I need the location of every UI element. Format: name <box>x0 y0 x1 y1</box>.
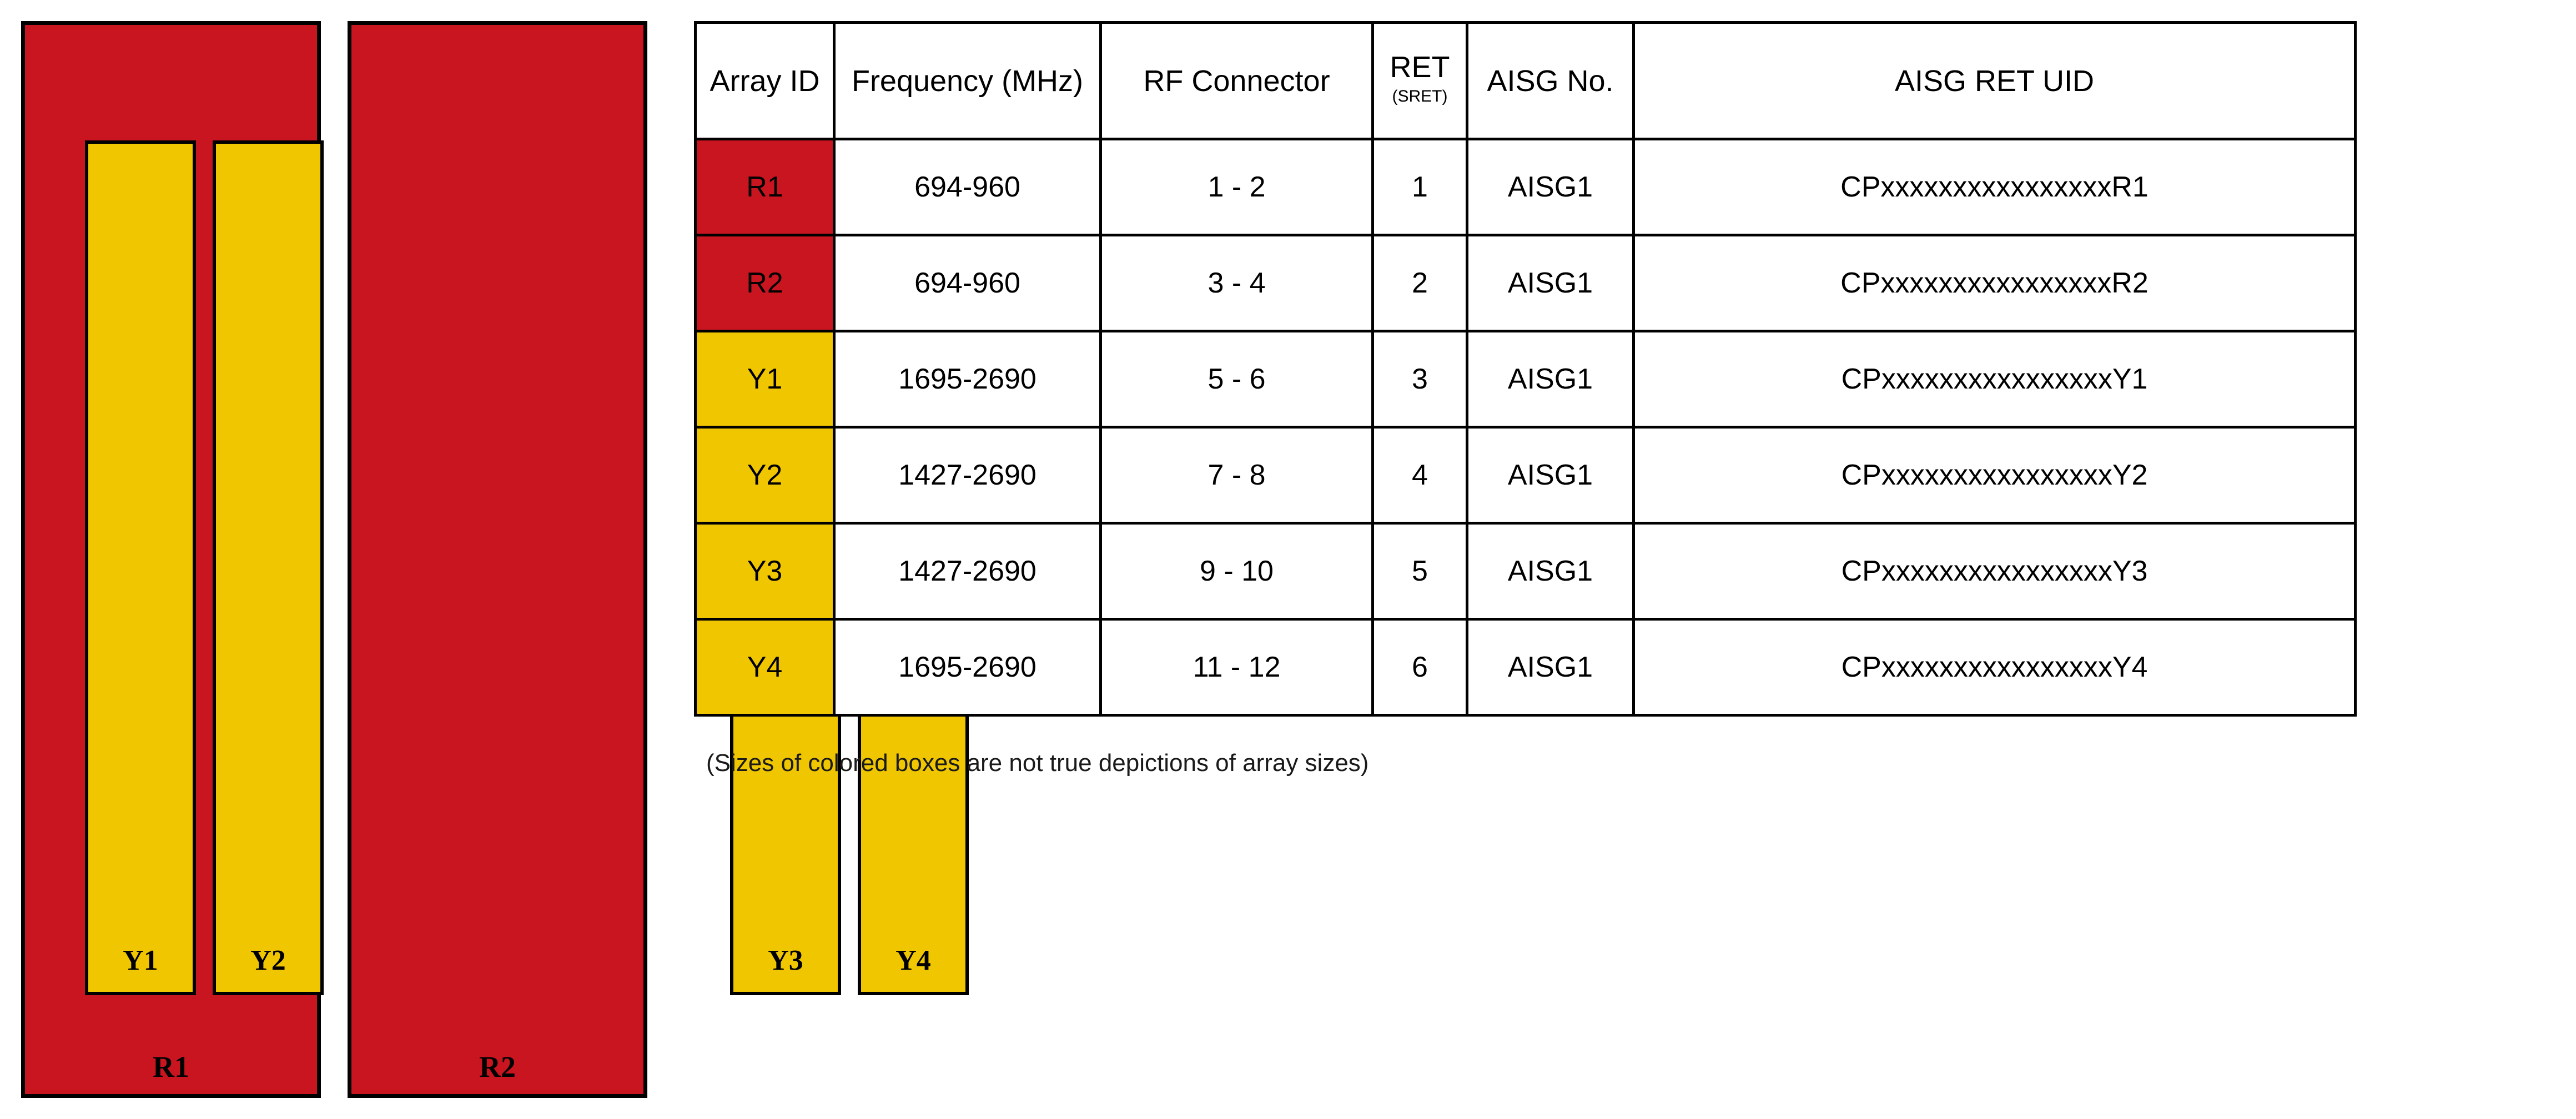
column-header-ret-main: RET <box>1374 52 1466 83</box>
cell-ret: 5 <box>1373 523 1467 619</box>
column-header-aisg-no: AISG No. <box>1467 23 1634 139</box>
array-box-y2: Y2 <box>213 140 324 995</box>
cell-frequency: 1427-2690 <box>834 427 1101 523</box>
cell-aisg-ret-uid: CPxxxxxxxxxxxxxxxxY2 <box>1634 427 2356 523</box>
cell-aisg-no: AISG1 <box>1467 331 1634 427</box>
table-row: Y41695-269011 - 126AISG1CPxxxxxxxxxxxxxx… <box>696 619 2356 715</box>
cell-aisg-no: AISG1 <box>1467 523 1634 619</box>
table-header-row: Array ID Frequency (MHz) RF Connector RE… <box>696 23 2356 139</box>
table-row: Y31427-26909 - 105AISG1CPxxxxxxxxxxxxxxx… <box>696 523 2356 619</box>
cell-aisg-no: AISG1 <box>1467 619 1634 715</box>
table-caption: (Sizes of colored boxes are not true dep… <box>706 749 1368 777</box>
cell-array-id: Y4 <box>696 619 834 715</box>
array-box-y1: Y1 <box>85 140 196 995</box>
table-row: R2694-9603 - 42AISG1CPxxxxxxxxxxxxxxxxR2 <box>696 235 2356 331</box>
antenna-panel-r2: Y3 Y4 R2 <box>348 21 647 1098</box>
column-header-array-id: Array ID <box>696 23 834 139</box>
column-header-rf-connector: RF Connector <box>1101 23 1373 139</box>
array-specification-table: Array ID Frequency (MHz) RF Connector RE… <box>694 21 2357 717</box>
cell-frequency: 1695-2690 <box>834 331 1101 427</box>
column-header-frequency: Frequency (MHz) <box>834 23 1101 139</box>
column-header-ret-sub: (SRET) <box>1374 83 1466 110</box>
cell-array-id: R1 <box>696 139 834 235</box>
cell-array-id: R2 <box>696 235 834 331</box>
cell-frequency: 694-960 <box>834 235 1101 331</box>
table-header: Array ID Frequency (MHz) RF Connector RE… <box>696 23 2356 139</box>
cell-rf-connector: 11 - 12 <box>1101 619 1373 715</box>
cell-aisg-ret-uid: CPxxxxxxxxxxxxxxxxR1 <box>1634 139 2356 235</box>
cell-ret: 3 <box>1373 331 1467 427</box>
cell-aisg-no: AISG1 <box>1467 235 1634 331</box>
cell-rf-connector: 5 - 6 <box>1101 331 1373 427</box>
cell-array-id: Y2 <box>696 427 834 523</box>
table-row: Y11695-26905 - 63AISG1CPxxxxxxxxxxxxxxxx… <box>696 331 2356 427</box>
cell-rf-connector: 9 - 10 <box>1101 523 1373 619</box>
array-box-label-y2: Y2 <box>216 946 320 975</box>
array-box-label-y3: Y3 <box>733 946 838 975</box>
cell-aisg-ret-uid: CPxxxxxxxxxxxxxxxxY3 <box>1634 523 2356 619</box>
antenna-panel-r1: Y1 Y2 R1 <box>21 21 321 1098</box>
cell-array-id: Y1 <box>696 331 834 427</box>
table-row: Y21427-26907 - 84AISG1CPxxxxxxxxxxxxxxxx… <box>696 427 2356 523</box>
array-box-label-y1: Y1 <box>88 946 193 975</box>
cell-array-id: Y3 <box>696 523 834 619</box>
cell-aisg-no: AISG1 <box>1467 139 1634 235</box>
column-header-aisg-ret-uid: AISG RET UID <box>1634 23 2356 139</box>
cell-rf-connector: 3 - 4 <box>1101 235 1373 331</box>
cell-aisg-no: AISG1 <box>1467 427 1634 523</box>
cell-frequency: 1427-2690 <box>834 523 1101 619</box>
cell-aisg-ret-uid: CPxxxxxxxxxxxxxxxxY1 <box>1634 331 2356 427</box>
cell-ret: 2 <box>1373 235 1467 331</box>
cell-frequency: 1695-2690 <box>834 619 1101 715</box>
cell-ret: 4 <box>1373 427 1467 523</box>
cell-frequency: 694-960 <box>834 139 1101 235</box>
cell-aisg-ret-uid: CPxxxxxxxxxxxxxxxxR2 <box>1634 235 2356 331</box>
cell-ret: 1 <box>1373 139 1467 235</box>
column-header-ret: RET (SRET) <box>1373 23 1467 139</box>
specification-table-container: Array ID Frequency (MHz) RF Connector RE… <box>694 21 2354 717</box>
cell-ret: 6 <box>1373 619 1467 715</box>
antenna-array-diagram: Y1 Y2 R1 Y3 Y4 R2 <box>0 0 688 1119</box>
antenna-panel-label-r1: R1 <box>25 1052 317 1082</box>
table-row: R1694-9601 - 21AISG1CPxxxxxxxxxxxxxxxxR1 <box>696 139 2356 235</box>
table-body: R1694-9601 - 21AISG1CPxxxxxxxxxxxxxxxxR1… <box>696 139 2356 715</box>
cell-rf-connector: 7 - 8 <box>1101 427 1373 523</box>
cell-rf-connector: 1 - 2 <box>1101 139 1373 235</box>
array-box-label-y4: Y4 <box>861 946 965 975</box>
antenna-panel-label-r2: R2 <box>351 1052 643 1082</box>
cell-aisg-ret-uid: CPxxxxxxxxxxxxxxxxY4 <box>1634 619 2356 715</box>
